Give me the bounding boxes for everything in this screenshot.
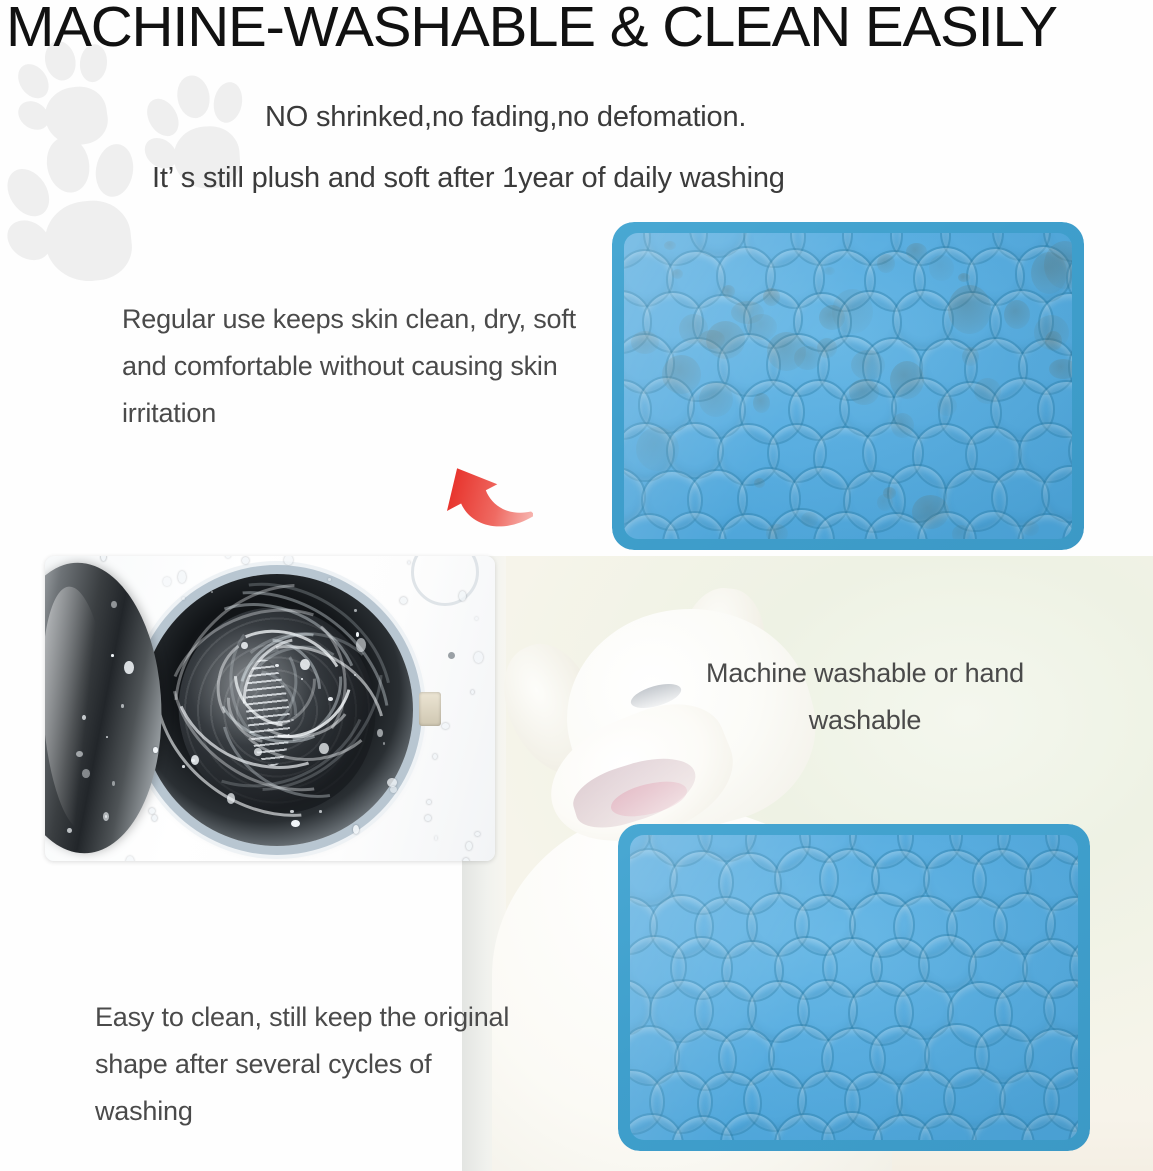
mat-surface	[624, 233, 1072, 539]
mat-dirty-image	[612, 222, 1084, 550]
feature-text-skin-care: Regular use keeps skin clean, dry, soft …	[122, 296, 592, 437]
subhead-line-1: NO shrinked,no fading,no defomation.	[265, 99, 746, 135]
feature-text-easy-clean: Easy to clean, still keep the original s…	[95, 994, 525, 1135]
mat-clean-image	[618, 824, 1090, 1151]
mat-sheen	[630, 835, 1078, 1140]
feature-text-washable: Machine washable or hand washable	[665, 650, 1065, 744]
subhead-line-2: It’ s still plush and soft after 1year o…	[152, 160, 785, 196]
mat-surface	[630, 835, 1078, 1140]
mat-sheen	[624, 233, 1072, 539]
water-droplets	[45, 556, 495, 861]
page-title: MACHINE-WASHABLE & CLEAN EASILY	[6, 0, 1153, 58]
curved-red-arrow-right-icon	[404, 882, 520, 982]
curved-red-arrow-down-icon	[425, 442, 533, 542]
washing-machine-photo	[45, 556, 495, 861]
paw-print-icon	[5, 130, 152, 293]
product-infographic: MACHINE-WASHABLE & CLEAN EASILY NO shrin…	[0, 0, 1153, 1171]
